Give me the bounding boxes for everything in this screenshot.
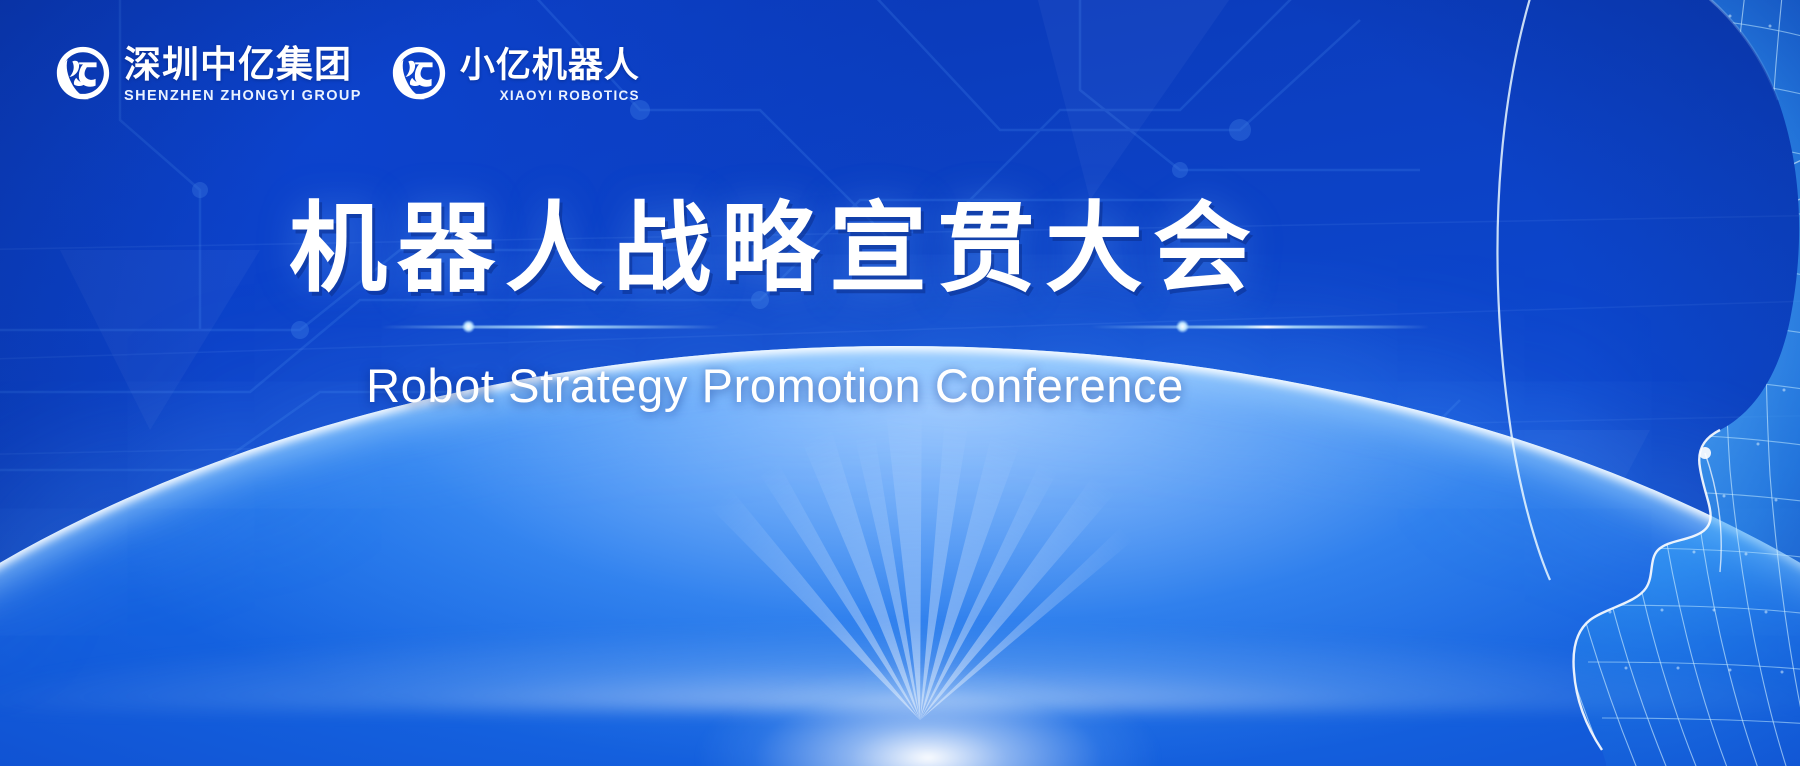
logo-shenzhen-zhongyi-group[interactable]: 深圳中亿集团 SHENZHEN ZHONGYI GROUP	[52, 44, 362, 106]
light-dot-icon	[1176, 320, 1189, 333]
logo-title-cn: 深圳中亿集团	[124, 46, 362, 83]
page-subtitle: Robot Strategy Promotion Conference	[0, 358, 1550, 413]
light-dot-icon	[462, 320, 475, 333]
logo-title-en: SHENZHEN ZHONGYI GROUP	[124, 89, 362, 104]
light-streak-icon	[380, 325, 720, 328]
page-title: 机器人战略宣贯大会	[0, 196, 1550, 304]
headline-block: 机器人战略宣贯大会 Robot Strategy Promotion Confe…	[0, 196, 1800, 413]
circular-z-emblem-icon	[52, 44, 114, 106]
light-streak-icon	[1090, 325, 1430, 328]
circular-z-emblem-icon	[388, 44, 450, 106]
logo-title-cn: 小亿机器人	[460, 48, 640, 83]
logo-xiaoyi-robotics[interactable]: 小亿机器人 XIAOYI ROBOTICS	[388, 44, 640, 106]
logo-title-en: XIAOYI ROBOTICS	[460, 89, 640, 103]
conference-banner: 深圳中亿集团 SHENZHEN ZHONGYI GROUP 小亿机器人 XIAO…	[0, 0, 1800, 766]
decorative-divider	[0, 314, 1550, 340]
logo-bar: 深圳中亿集团 SHENZHEN ZHONGYI GROUP 小亿机器人 XIAO…	[52, 44, 640, 106]
